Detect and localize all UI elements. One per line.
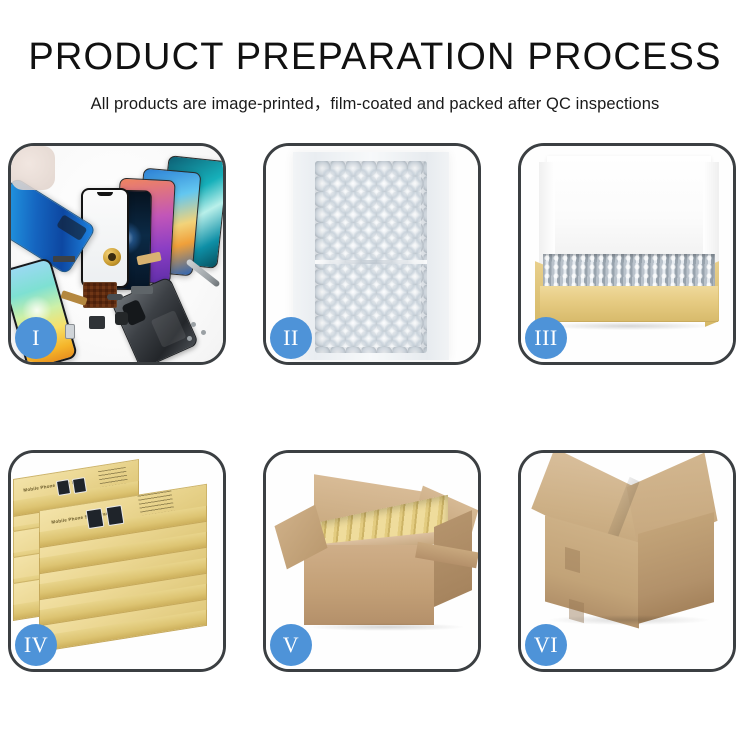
- page-title: PRODUCT PREPARATION PROCESS: [0, 36, 750, 79]
- process-step-card-6[interactable]: VI: [518, 450, 736, 672]
- step-badge-1: I: [15, 317, 57, 359]
- inner-box-front-panel: [540, 286, 718, 322]
- retail-box-screen-image-back-1: [56, 479, 71, 496]
- hand-blur: [11, 146, 55, 190]
- step-badge-4: IV: [15, 624, 57, 666]
- sealed-carton-shadow: [549, 615, 709, 625]
- inner-box-shadow: [545, 322, 713, 330]
- sealed-carton-tab-upper: [565, 547, 580, 573]
- speaker-part: [89, 316, 105, 329]
- retail-box-screen-image-front-2: [106, 505, 125, 526]
- earpiece-part: [53, 256, 75, 262]
- step-badge-3: III: [525, 317, 567, 359]
- camera-module-part: [103, 248, 121, 266]
- flex-cable-part-3: [131, 286, 153, 294]
- process-step-card-3[interactable]: III: [518, 143, 736, 365]
- inner-box-lid: [547, 156, 711, 268]
- screw-part-2: [201, 330, 206, 335]
- product-preparation-process-page: PRODUCT PREPARATION PROCESS All products…: [0, 0, 750, 750]
- header: PRODUCT PREPARATION PROCESS All products…: [0, 0, 750, 114]
- retail-box-screen-image-front-1: [86, 508, 105, 529]
- retail-box-screen-image-back-2: [72, 477, 87, 494]
- step-badge-2: II: [270, 317, 312, 359]
- page-subtitle: All products are image-printed，film-coat…: [0, 90, 750, 114]
- bubble-pattern-front: [323, 169, 421, 347]
- bag-seam: [315, 260, 427, 264]
- process-step-card-1[interactable]: I: [8, 143, 226, 365]
- bubble-wrap-bag: [293, 152, 449, 360]
- side-button-part: [107, 294, 123, 300]
- front-camera-part: [115, 312, 128, 325]
- inner-box-bubble-contents: [543, 254, 715, 288]
- sim-tray-part: [65, 324, 75, 339]
- process-step-card-4[interactable]: Mobile Phone Spare Parts: [8, 450, 226, 672]
- process-step-grid: I II III: [8, 143, 742, 680]
- step-badge-5: V: [270, 624, 312, 666]
- process-step-card-2[interactable]: II: [263, 143, 481, 365]
- carton-shadow: [306, 623, 466, 631]
- screw-part-1: [191, 322, 196, 327]
- screw-part-3: [187, 336, 192, 341]
- step-badge-6: VI: [525, 624, 567, 666]
- process-step-card-5[interactable]: V: [263, 450, 481, 672]
